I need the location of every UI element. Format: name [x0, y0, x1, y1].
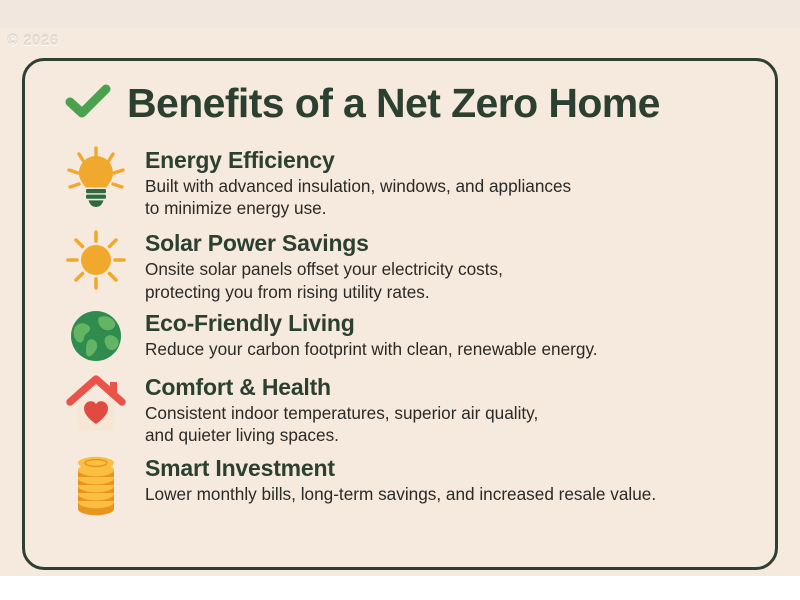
- benefit-title: Smart Investment: [145, 456, 749, 482]
- lightbulb-icon: [65, 146, 127, 208]
- benefit-description: Consistent indoor temperatures, superior…: [145, 402, 749, 447]
- page-title: Benefits of a Net Zero Home: [127, 83, 660, 124]
- benefit-title: Solar Power Savings: [145, 231, 749, 257]
- benefit-item-comfort-and-health: Comfort & Health Consistent indoor tempe…: [65, 371, 749, 446]
- benefit-title: Comfort & Health: [145, 375, 749, 401]
- benefit-item-eco-friendly-living: Eco-Friendly Living Reduce your carbon f…: [65, 307, 749, 363]
- benefit-item-energy-efficiency: Energy Efficiency Built with advanced in…: [65, 144, 749, 219]
- benefit-text-solar-power-savings: Solar Power Savings Onsite solar panels …: [145, 227, 749, 302]
- check-icon: [65, 83, 111, 124]
- benefit-item-solar-power-savings: Solar Power Savings Onsite solar panels …: [65, 227, 749, 302]
- copyright-watermark: © 2026: [7, 32, 59, 49]
- sun-icon: [65, 229, 127, 291]
- card-content: Benefits of a Net Zero Home: [25, 61, 775, 567]
- benefit-item-smart-investment: Smart Investment Lower monthly bills, lo…: [65, 452, 749, 516]
- benefits-card: Benefits of a Net Zero Home: [22, 58, 778, 570]
- benefit-title: Energy Efficiency: [145, 148, 749, 174]
- benefit-description: Onsite solar panels offset your electric…: [145, 258, 749, 303]
- benefit-text-energy-efficiency: Energy Efficiency Built with advanced in…: [145, 144, 749, 219]
- house-heart-icon: [65, 373, 127, 435]
- coin-stack-icon: [65, 454, 127, 516]
- globe-icon: [65, 309, 127, 363]
- benefits-list: Energy Efficiency Built with advanced in…: [65, 144, 749, 516]
- benefit-text-comfort-and-health: Comfort & Health Consistent indoor tempe…: [145, 371, 749, 446]
- canvas-background-top-band: [0, 0, 800, 28]
- benefit-title: Eco-Friendly Living: [145, 311, 749, 337]
- benefit-description: Built with advanced insulation, windows,…: [145, 175, 749, 220]
- benefit-text-smart-investment: Smart Investment Lower monthly bills, lo…: [145, 452, 749, 505]
- infographic-stage: © 2026 Benefits of a Net Zero Home: [0, 0, 800, 600]
- benefit-description: Lower monthly bills, long-term savings, …: [145, 483, 749, 505]
- benefit-description: Reduce your carbon footprint with clean,…: [145, 338, 749, 360]
- title-row: Benefits of a Net Zero Home: [65, 83, 749, 124]
- benefit-text-eco-friendly-living: Eco-Friendly Living Reduce your carbon f…: [145, 307, 749, 360]
